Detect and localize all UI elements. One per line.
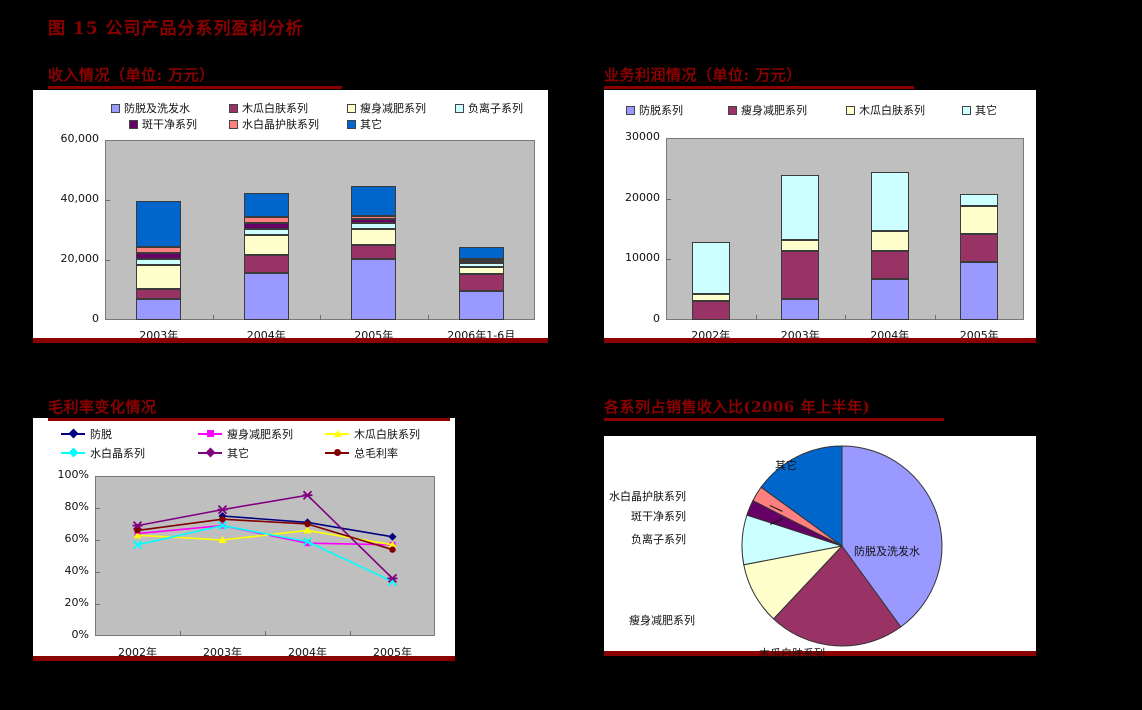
legend-swatch-1: [229, 104, 238, 113]
margin-ytick-0: 0%: [43, 628, 89, 641]
legend-label-0: 防脱系列: [639, 102, 683, 118]
revenue-chart-xtick-mark-0: [213, 315, 214, 320]
legend-label-0: 防脱: [90, 426, 112, 442]
legend-label-3: 负离子系列: [468, 100, 523, 116]
revenue-chart-segment-3-1[interactable]: [459, 274, 504, 291]
margin-ytick-5: 100%: [43, 468, 89, 481]
legend-label-2: 木瓜白肤系列: [859, 102, 925, 118]
margin-accent-bar: [33, 656, 455, 661]
legend-line-swatch-4: [198, 452, 222, 454]
profit-chart-bar-2[interactable]: [871, 138, 909, 320]
revenue-chart-segment-3-6[interactable]: [459, 247, 504, 260]
revenue-chart-segment-1-4[interactable]: [244, 223, 289, 229]
legend-item[interactable]: 水白晶护肤系列: [229, 116, 319, 132]
profit-chart-segment-1-0[interactable]: [781, 299, 819, 320]
margin-ytick-mark-2: [95, 572, 100, 573]
profit-chart-bar-3[interactable]: [960, 138, 998, 320]
legend-label-3: 水白晶系列: [90, 445, 145, 461]
legend-swatch-1: [728, 106, 737, 115]
profit-chart-ytick-mark-1: [666, 259, 671, 260]
revenue-chart-segment-2-1[interactable]: [351, 245, 396, 259]
legend-label-1: 瘦身减肥系列: [741, 102, 807, 118]
legend-marker-diamond-icon: [69, 429, 79, 439]
legend-item[interactable]: 防脱系列: [626, 102, 683, 118]
margin-xtick-mark-1: [265, 631, 266, 636]
revenue-chart-segment-2-3[interactable]: [351, 223, 396, 229]
revenue-chart-segment-0-1[interactable]: [136, 289, 181, 299]
profit-chart-xtick-mark-0: [756, 315, 757, 320]
legend-label-1: 木瓜白肤系列: [242, 100, 308, 116]
pie-label-1: 木瓜白肤系列: [759, 645, 825, 661]
pie-label-3: 负离子系列: [631, 531, 686, 547]
legend-label-2: 木瓜白肤系列: [354, 426, 420, 442]
legend-label-6: 其它: [360, 116, 382, 132]
profit-chart-ytick-0: 0: [594, 312, 660, 325]
revenue-chart-bar-1[interactable]: [244, 140, 289, 320]
legend-item[interactable]: 斑干净系列: [129, 116, 197, 132]
revenue-chart-segment-0-3[interactable]: [136, 259, 181, 264]
revenue-chart-segment-2-0[interactable]: [351, 259, 396, 321]
revenue-chart-segment-1-6[interactable]: [244, 193, 289, 217]
legend-line-swatch-0: [61, 433, 85, 435]
section-heading-pie: 各系列占销售收入比(2006 年上半年): [604, 396, 870, 417]
legend-swatch-4: [129, 120, 138, 129]
margin-xtick-mark-2: [350, 631, 351, 636]
profit-chart-bar-0[interactable]: [692, 138, 730, 320]
legend-marker-x-icon: [69, 448, 79, 458]
revenue-chart-segment-3-2[interactable]: [459, 267, 504, 274]
legend-swatch-3: [455, 104, 464, 113]
revenue-chart-segment-1-1[interactable]: [244, 255, 289, 273]
legend-marker-star-icon: [206, 448, 216, 458]
margin-heading-underline: [48, 418, 450, 421]
section-heading-revenue: 收入情况（单位: 万元）: [48, 64, 215, 85]
legend-label-5: 总毛利率: [354, 445, 398, 461]
revenue-heading-underline: [48, 86, 342, 89]
legend-swatch-0: [111, 104, 120, 113]
profit-chart-segment-3-1[interactable]: [960, 234, 998, 262]
margin-ytick-1: 20%: [43, 596, 89, 609]
revenue-chart-segment-1-2[interactable]: [244, 235, 289, 255]
revenue-chart-segment-0-0[interactable]: [136, 299, 181, 320]
profit-chart-xtick-mark-2: [935, 315, 936, 320]
profit-chart-segment-0-3[interactable]: [692, 242, 730, 294]
profit-chart-segment-3-3[interactable]: [960, 194, 998, 206]
revenue-chart-bar-3[interactable]: [459, 140, 504, 320]
legend-item[interactable]: 木瓜白肤系列: [846, 102, 925, 118]
legend-marker-triangle-icon: [334, 430, 342, 437]
profit-chart-ytick-2: 20000: [594, 191, 660, 204]
legend-line-swatch-5: [325, 452, 349, 454]
revenue-chart-segment-2-6[interactable]: [351, 186, 396, 216]
profit-chart-ytick-mark-2: [666, 199, 671, 200]
revenue-chart-segment-3-0[interactable]: [459, 291, 504, 320]
profit-chart-segment-1-1[interactable]: [781, 251, 819, 299]
legend-swatch-2: [347, 104, 356, 113]
revenue-chart-ytick-3: 60,000: [33, 132, 99, 145]
legend-swatch-5: [229, 120, 238, 129]
profit-accent-bar: [604, 338, 1036, 343]
profit-chart-segment-2-3[interactable]: [871, 172, 909, 231]
margin-ytick-3: 60%: [43, 532, 89, 545]
pie-label-2: 瘦身减肥系列: [629, 612, 695, 628]
legend-label-0: 防脱及洗发水: [124, 100, 190, 116]
legend-item[interactable]: 其它: [347, 116, 382, 132]
revenue-chart-ytick-mark-2: [105, 200, 110, 201]
revenue-chart-segment-0-4[interactable]: [136, 253, 181, 259]
revenue-chart-segment-1-5[interactable]: [244, 217, 289, 222]
profit-chart-segment-3-0[interactable]: [960, 262, 998, 320]
margin-ytick-4: 80%: [43, 500, 89, 513]
margin-chart-plot-area: [95, 476, 435, 636]
margin-ytick-mark-1: [95, 604, 100, 605]
margin-xtick-mark-0: [180, 631, 181, 636]
revenue-chart-ytick-0: 0: [33, 312, 99, 325]
legend-line-swatch-1: [198, 433, 222, 435]
revenue-chart-xtick-mark-2: [428, 315, 429, 320]
legend-item[interactable]: 水白晶系列: [61, 445, 145, 461]
profit-chart-panel: 防脱系列瘦身减肥系列木瓜白肤系列其它01000020000300002002年2…: [604, 90, 1036, 338]
legend-label-1: 瘦身减肥系列: [227, 426, 293, 442]
profit-chart-segment-2-1[interactable]: [871, 251, 909, 280]
pie-label-0: 防脱及洗发水: [854, 543, 920, 559]
margin-ytick-mark-3: [95, 540, 100, 541]
margin-ytick-2: 40%: [43, 564, 89, 577]
profit-chart-bar-1[interactable]: [781, 138, 819, 320]
revenue-chart-segment-2-4[interactable]: [351, 219, 396, 223]
legend-item[interactable]: 总毛利率: [325, 445, 398, 461]
legend-label-4: 其它: [227, 445, 249, 461]
profit-chart-segment-2-2[interactable]: [871, 231, 909, 251]
pie-label-5: 水白晶护肤系列: [609, 488, 686, 504]
profit-chart-xtick-mark-1: [845, 315, 846, 320]
page-title: 图 15 公司产品分系列盈利分析: [48, 14, 304, 39]
revenue-chart-segment-2-5[interactable]: [351, 216, 396, 219]
legend-line-swatch-2: [325, 433, 349, 435]
revenue-chart-segment-0-5[interactable]: [136, 247, 181, 252]
revenue-accent-bar: [33, 338, 548, 343]
legend-label-3: 其它: [975, 102, 997, 118]
revenue-chart-segment-1-3[interactable]: [244, 229, 289, 236]
legend-label-4: 斑干净系列: [142, 116, 197, 132]
legend-item[interactable]: 木瓜白肤系列: [325, 426, 420, 442]
legend-item[interactable]: 瘦身减肥系列: [347, 100, 426, 116]
pie-label-6: 其它: [775, 457, 797, 473]
profit-chart-segment-0-2[interactable]: [692, 294, 730, 301]
profit-chart-ytick-1: 10000: [594, 251, 660, 264]
legend-item[interactable]: 其它: [198, 445, 249, 461]
legend-item[interactable]: 防脱及洗发水: [111, 100, 190, 116]
legend-swatch-2: [846, 106, 855, 115]
revenue-chart-segment-2-2[interactable]: [351, 229, 396, 244]
profit-chart-segment-1-3[interactable]: [781, 175, 819, 240]
legend-swatch-3: [962, 106, 971, 115]
legend-item[interactable]: 其它: [962, 102, 997, 118]
revenue-chart-panel: 防脱及洗发水木瓜白肤系列瘦身减肥系列负离子系列斑干净系列水白晶护肤系列其它020…: [33, 90, 548, 338]
revenue-chart-xtick-mark-1: [320, 315, 321, 320]
legend-swatch-0: [626, 106, 635, 115]
legend-line-swatch-3: [61, 452, 85, 454]
margin-ytick-mark-4: [95, 508, 100, 509]
section-heading-profit: 业务利润情况（单位: 万元）: [604, 64, 802, 85]
profit-chart-ytick-3: 30000: [594, 130, 660, 143]
legend-marker-square-icon: [207, 430, 214, 437]
revenue-chart-segment-0-2[interactable]: [136, 265, 181, 290]
revenue-chart-segment-0-6[interactable]: [136, 201, 181, 248]
pie-label-4: 斑干净系列: [631, 508, 686, 524]
profit-chart-segment-1-2[interactable]: [781, 240, 819, 251]
revenue-chart-bar-0[interactable]: [136, 140, 181, 320]
margin-chart-panel: 防脱瘦身减肥系列木瓜白肤系列水白晶系列其它总毛利率0%20%40%60%80%1…: [33, 418, 455, 656]
revenue-chart-segment-1-0[interactable]: [244, 273, 289, 320]
section-heading-margin: 毛利率变化情况: [48, 396, 157, 417]
revenue-chart-segment-3-3[interactable]: [459, 263, 504, 267]
legend-item[interactable]: 负离子系列: [455, 100, 523, 116]
revenue-chart-bar-2[interactable]: [351, 140, 396, 320]
profit-chart-segment-0-1[interactable]: [692, 301, 730, 320]
revenue-chart-ytick-mark-1: [105, 260, 110, 261]
revenue-chart-ytick-2: 40,000: [33, 192, 99, 205]
profit-heading-underline: [604, 86, 914, 89]
legend-item[interactable]: 瘦身减肥系列: [198, 426, 293, 442]
legend-label-5: 水白晶护肤系列: [242, 116, 319, 132]
legend-item[interactable]: 木瓜白肤系列: [229, 100, 308, 116]
profit-chart-segment-2-0[interactable]: [871, 279, 909, 320]
revenue-chart-ytick-1: 20,000: [33, 252, 99, 265]
profit-chart-segment-3-2[interactable]: [960, 206, 998, 235]
legend-marker-dot-icon: [334, 449, 341, 456]
legend-label-2: 瘦身减肥系列: [360, 100, 426, 116]
revenue-chart-segment-3-4[interactable]: [459, 261, 504, 264]
legend-swatch-6: [347, 120, 356, 129]
pie-heading-underline: [604, 418, 944, 421]
legend-item[interactable]: 瘦身减肥系列: [728, 102, 807, 118]
legend-item[interactable]: 防脱: [61, 426, 112, 442]
